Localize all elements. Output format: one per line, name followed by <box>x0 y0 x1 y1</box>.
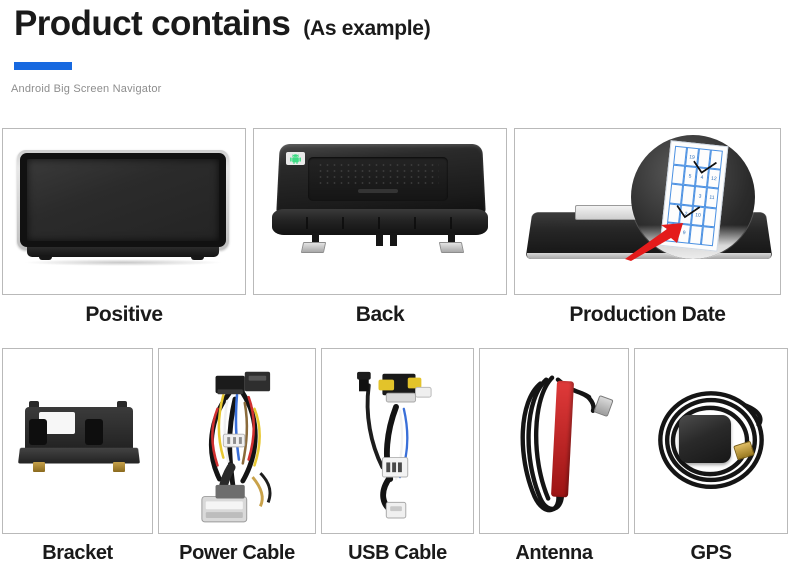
product-label-gps: GPS <box>634 539 788 567</box>
product-item-positive: Positive <box>2 128 246 329</box>
red-arrow-icon <box>623 221 685 261</box>
page-header: Product contains (As example) Android Bi… <box>0 0 792 120</box>
page-title: Product contains (As example) <box>14 2 430 46</box>
power-harness-icon <box>159 349 315 533</box>
product-image-positive <box>2 128 246 295</box>
gps-antenna-puck <box>679 415 731 463</box>
product-image-usb-cable <box>321 348 474 534</box>
drop-shadow <box>23 259 223 266</box>
product-row-top: Positive <box>2 128 788 329</box>
vent-holes <box>317 162 439 186</box>
product-image-gps <box>634 348 788 534</box>
product-image-power-cable <box>158 348 316 534</box>
android-robot-icon <box>286 152 305 165</box>
product-label-back: Back <box>253 301 507 329</box>
product-item-usb-cable: USB Cable <box>321 348 474 567</box>
product-item-production-date: 19 5412 311 210 19 Production Date <box>514 128 781 329</box>
page-subtitle: Android Big Screen Navigator <box>11 83 162 95</box>
product-label-power-cable: Power Cable <box>158 539 316 567</box>
product-image-back <box>253 128 507 295</box>
page-title-main: Product contains <box>14 2 290 46</box>
product-row-bottom: Bracket <box>2 348 788 567</box>
product-label-usb-cable: USB Cable <box>321 539 474 567</box>
mounting-tab-right <box>439 242 464 253</box>
product-image-antenna <box>479 348 629 534</box>
product-item-back: Back <box>253 128 507 329</box>
usb-cable-icon <box>322 349 473 533</box>
product-label-antenna: Antenna <box>479 539 629 567</box>
bracket-screw-tab-left <box>33 462 45 472</box>
product-label-production-date: Production Date <box>514 301 781 329</box>
head-unit-back-icon <box>272 143 488 248</box>
page-title-note: (As example) <box>303 17 430 41</box>
head-unit-front-icon <box>17 150 229 250</box>
label-plate <box>575 205 637 220</box>
mounting-tab-left <box>301 242 326 253</box>
product-item-gps: GPS <box>634 348 788 567</box>
product-item-power-cable: Power Cable <box>158 348 316 567</box>
product-image-bracket <box>2 348 153 534</box>
product-label-bracket: Bracket <box>2 539 153 567</box>
bracket-screw-tab-right <box>113 462 125 472</box>
product-item-bracket: Bracket <box>2 348 153 567</box>
product-image-production-date: 19 5412 311 210 19 <box>514 128 781 295</box>
product-item-antenna: Antenna <box>479 348 629 567</box>
accent-bar <box>14 62 72 70</box>
product-label-positive: Positive <box>2 301 246 329</box>
